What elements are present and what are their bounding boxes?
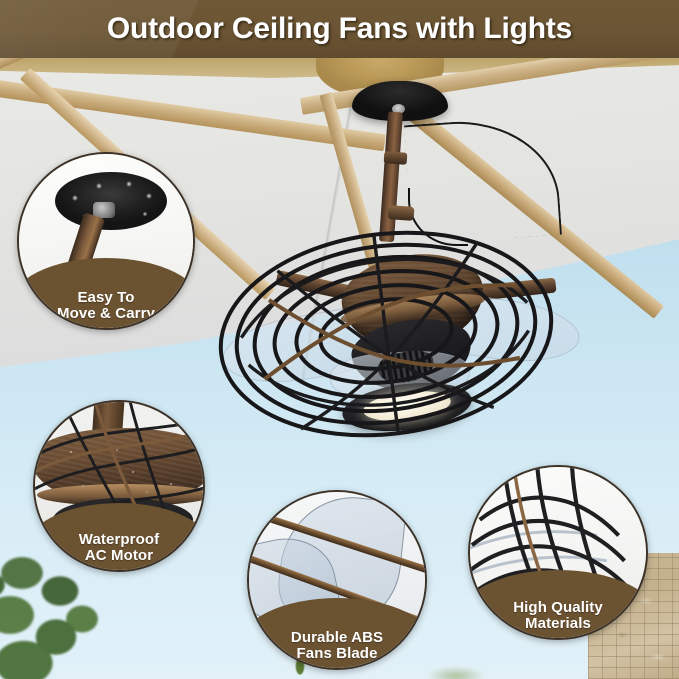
callout-durable-abs-fans-blade[interactable]: Durable ABS Fans Blade xyxy=(247,490,427,670)
callout-label-line1: Waterproof xyxy=(79,532,159,548)
cage-wire-bronze xyxy=(405,490,427,568)
callout-label-line2: Move & Carry xyxy=(57,306,155,322)
callout-label-band: Waterproof AC Motor xyxy=(33,503,205,570)
callout-label-line1: Durable ABS xyxy=(291,630,383,646)
callout-label-line1: Easy To xyxy=(77,290,134,306)
callout-easy-to-move-carry[interactable]: Easy To Move & Carry xyxy=(17,152,195,330)
mounting-plate-detail xyxy=(55,172,167,230)
callout-waterproof-ac-motor[interactable]: Waterproof AC Motor xyxy=(33,400,205,572)
fan-cage xyxy=(204,204,568,464)
callout-label-line2: AC Motor xyxy=(85,548,153,564)
callout-label-line2: Materials xyxy=(525,616,591,632)
downrod-collar xyxy=(388,205,415,221)
product-image-stage: Easy To Move & Carry xyxy=(0,0,679,679)
header-banner: Outdoor Ceiling Fans with Lights xyxy=(0,0,679,58)
downrod-collar xyxy=(384,151,408,165)
callout-label-line2: Fans Blade xyxy=(296,646,377,662)
callout-label-line1: High Quality xyxy=(513,600,603,616)
callout-label-band: Easy To Move & Carry xyxy=(17,258,195,328)
page-title: Outdoor Ceiling Fans with Lights xyxy=(107,12,572,46)
callout-high-quality-materials[interactable]: High Quality Materials xyxy=(468,465,648,640)
